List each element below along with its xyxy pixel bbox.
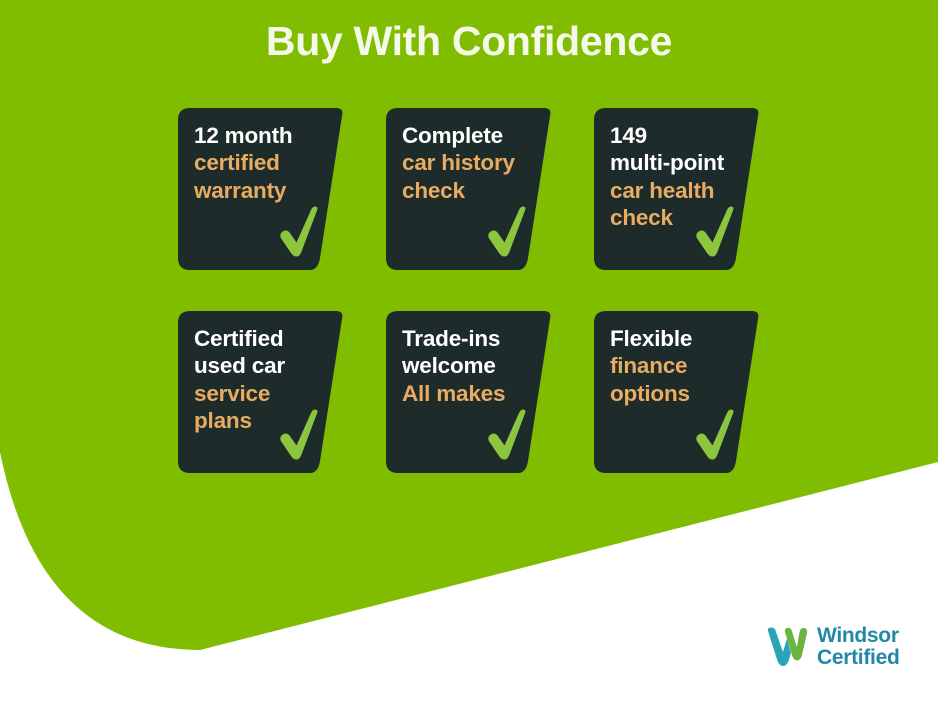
card-line: car health [610,177,750,204]
card-line: 149 [610,122,750,149]
logo-wordmark: Windsor Certified [817,625,899,670]
logo-line-2: Certified [817,647,899,669]
benefit-card-history-check[interactable]: Completecar historycheck [386,108,552,270]
check-icon [278,206,322,260]
card-line: multi-point [610,149,750,176]
card-line: warranty [194,177,334,204]
check-icon [694,206,738,260]
card-line: finance [610,352,750,379]
benefit-card-trade-ins[interactable]: Trade-inswelcomeAll makes [386,311,552,473]
card-line: Flexible [610,325,750,352]
check-icon [486,409,530,463]
benefit-card-health-check[interactable]: 149multi-pointcar healthcheck [594,108,760,270]
benefit-card-service-plans[interactable]: Certifiedused carserviceplans [178,311,344,473]
brand-logo: Windsor Certified [763,625,899,670]
logo-line-1: Windsor [817,625,899,647]
card-text-block: Trade-inswelcomeAll makes [402,325,542,407]
page-title: Buy With Confidence [0,18,938,65]
benefit-card-warranty[interactable]: 12 monthcertifiedwarranty [178,108,344,270]
windsor-w-mark-icon [763,625,809,669]
card-line: service [194,380,334,407]
card-line: Complete [402,122,542,149]
card-line: Certified [194,325,334,352]
check-icon [278,409,322,463]
card-text-block: Flexiblefinanceoptions [610,325,750,407]
card-line: car history [402,149,542,176]
card-line: used car [194,352,334,379]
benefit-cards-grid: 12 monthcertifiedwarrantyCompletecar his… [178,108,760,473]
card-text-block: Completecar historycheck [402,122,542,204]
card-line: Trade-ins [402,325,542,352]
card-line: All makes [402,380,542,407]
card-line: check [402,177,542,204]
card-line: certified [194,149,334,176]
card-text-block: 12 monthcertifiedwarranty [194,122,334,204]
benefit-card-finance[interactable]: Flexiblefinanceoptions [594,311,760,473]
check-icon [694,409,738,463]
check-icon [486,206,530,260]
poster-canvas: Buy With Confidence 12 monthcertifiedwar… [0,0,938,704]
card-line: welcome [402,352,542,379]
card-line: 12 month [194,122,334,149]
card-line: options [610,380,750,407]
